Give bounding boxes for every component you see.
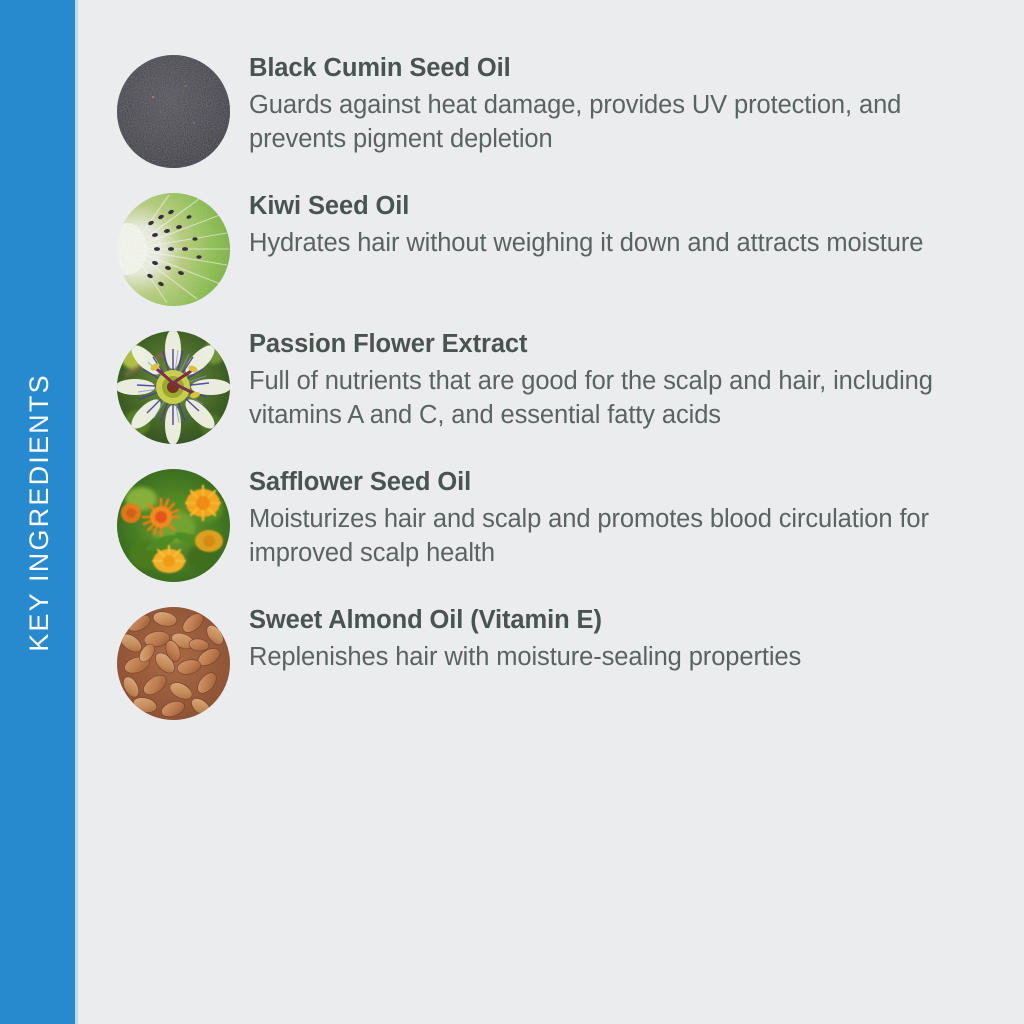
sidebar-edge-highlight bbox=[75, 0, 78, 1024]
safflower-blooms-image bbox=[117, 469, 230, 582]
ingredient-text: Sweet Almond Oil (Vitamin E) Replenishes… bbox=[230, 604, 984, 674]
ingredient-text: Black Cumin Seed Oil Guards against heat… bbox=[230, 52, 984, 156]
ingredient-item: Kiwi Seed Oil Hydrates hair without weig… bbox=[100, 190, 984, 306]
ingredient-description: Guards against heat damage, provides UV … bbox=[249, 88, 974, 156]
ingredient-title: Sweet Almond Oil (Vitamin E) bbox=[249, 605, 984, 636]
ingredient-item: Passion Flower Extract Full of nutrients… bbox=[100, 328, 984, 444]
ingredient-text: Kiwi Seed Oil Hydrates hair without weig… bbox=[230, 190, 984, 260]
key-ingredients-infographic: KEY INGREDIENTS bbox=[0, 0, 1024, 1024]
sidebar-band: KEY INGREDIENTS bbox=[0, 0, 78, 1024]
almonds-image bbox=[117, 607, 230, 720]
ingredient-thumbnail-wrap bbox=[100, 190, 230, 306]
sidebar-vertical-title: KEY INGREDIENTS bbox=[24, 373, 55, 652]
black-cumin-seeds-image bbox=[117, 55, 230, 168]
ingredient-title: Black Cumin Seed Oil bbox=[249, 53, 984, 84]
ingredient-title: Safflower Seed Oil bbox=[249, 467, 984, 498]
ingredient-thumbnail-wrap bbox=[100, 466, 230, 582]
ingredient-description: Moisturizes hair and scalp and promotes … bbox=[249, 502, 974, 570]
ingredient-thumbnail-wrap bbox=[100, 328, 230, 444]
ingredient-title: Kiwi Seed Oil bbox=[249, 191, 984, 222]
ingredient-description: Full of nutrients that are good for the … bbox=[249, 364, 974, 432]
ingredient-text: Passion Flower Extract Full of nutrients… bbox=[230, 328, 984, 432]
ingredient-description: Hydrates hair without weighing it down a… bbox=[249, 226, 974, 260]
ingredient-item: Black Cumin Seed Oil Guards against heat… bbox=[100, 52, 984, 168]
ingredient-list: Black Cumin Seed Oil Guards against heat… bbox=[78, 0, 1024, 1024]
ingredient-title: Passion Flower Extract bbox=[249, 329, 984, 360]
ingredient-thumbnail-wrap bbox=[100, 604, 230, 720]
passion-flower-image bbox=[117, 331, 230, 444]
ingredient-item: Sweet Almond Oil (Vitamin E) Replenishes… bbox=[100, 604, 984, 720]
ingredient-description: Replenishes hair with moisture-sealing p… bbox=[249, 640, 974, 674]
ingredient-item: Safflower Seed Oil Moisturizes hair and … bbox=[100, 466, 984, 582]
ingredient-text: Safflower Seed Oil Moisturizes hair and … bbox=[230, 466, 984, 570]
kiwi-slice-image bbox=[117, 193, 230, 306]
ingredient-thumbnail-wrap bbox=[100, 52, 230, 168]
